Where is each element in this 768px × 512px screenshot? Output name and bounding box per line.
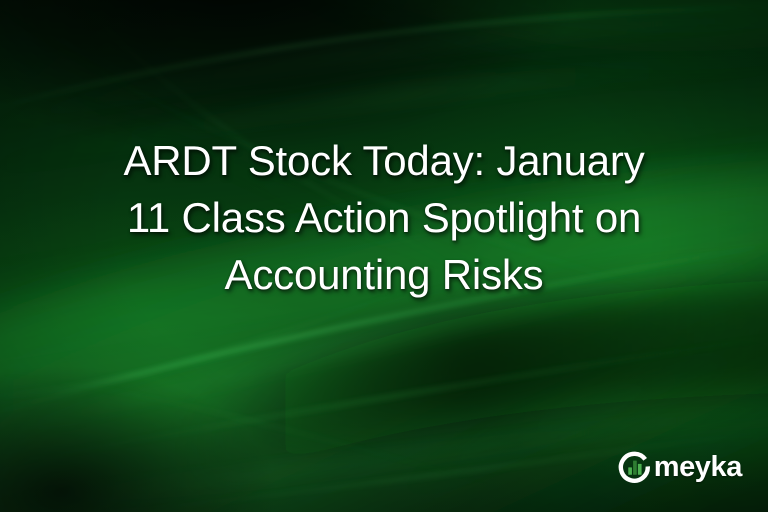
- article-share-banner: ARDT Stock Today: January 11 Class Actio…: [0, 0, 768, 512]
- page-title-line-3: Accounting Risks: [34, 246, 734, 303]
- brand-wordmark: meyka: [654, 453, 742, 482]
- page-title: ARDT Stock Today: January 11 Class Actio…: [0, 132, 768, 303]
- brand-logo: meyka: [618, 450, 742, 484]
- page-title-line-2: 11 Class Action Spotlight on: [34, 189, 734, 246]
- meyka-chart-ring-icon: [618, 450, 652, 484]
- page-title-line-1: ARDT Stock Today: January: [34, 132, 734, 189]
